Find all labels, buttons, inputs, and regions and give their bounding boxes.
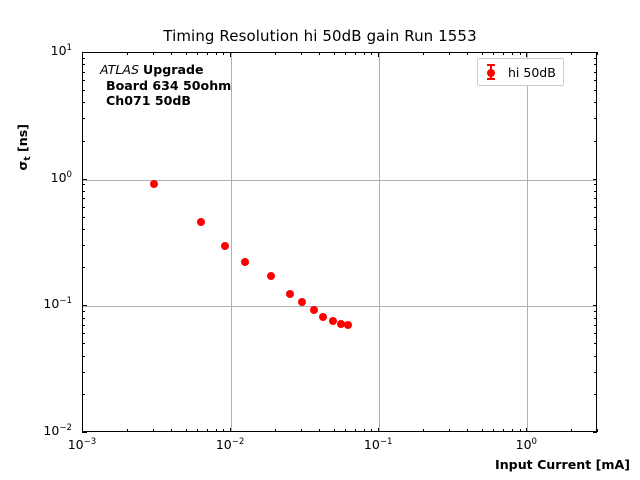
- x-tick-top: [597, 52, 598, 55]
- x-tick: [378, 428, 379, 433]
- data-point: [344, 321, 352, 329]
- y-tick: [82, 267, 85, 268]
- y-tick-right: [594, 394, 597, 395]
- y-tick: [82, 343, 85, 344]
- y-tick: [82, 118, 85, 119]
- x-tick-top: [275, 52, 276, 55]
- plot-area: [82, 52, 597, 432]
- x-tick: [207, 429, 208, 432]
- y-tick-right: [594, 58, 597, 59]
- x-tick-top: [378, 52, 379, 57]
- y-tick-right: [594, 229, 597, 230]
- data-point: [221, 242, 229, 250]
- x-tick-top: [127, 52, 128, 55]
- x-tick: [319, 429, 320, 432]
- y-tick: [82, 432, 87, 433]
- data-point: [319, 313, 327, 321]
- y-tick-right: [594, 191, 597, 192]
- y-tick: [82, 356, 85, 357]
- x-tick-top: [319, 52, 320, 55]
- x-gridline: [527, 53, 528, 431]
- channel-label: Ch071 50dB: [100, 93, 231, 109]
- x-tick: [467, 429, 468, 432]
- y-tick: [82, 372, 85, 373]
- x-tick: [520, 429, 521, 432]
- x-tick: [334, 429, 335, 432]
- x-tick: [345, 429, 346, 432]
- y-tick: [82, 102, 85, 103]
- y-tick-right: [594, 311, 597, 312]
- x-tick: [597, 429, 598, 432]
- legend-marker-icon: [483, 63, 499, 81]
- x-tick: [371, 429, 372, 432]
- x-tick: [364, 429, 365, 432]
- y-tick-right: [594, 64, 597, 65]
- x-tick: [186, 429, 187, 432]
- x-tick: [223, 429, 224, 432]
- y-tick-right: [594, 118, 597, 119]
- x-tick-top: [423, 52, 424, 55]
- x-tick-top: [197, 52, 198, 55]
- x-axis-title: Input Current [mA]: [495, 457, 630, 472]
- y-tick-right: [594, 343, 597, 344]
- y-tick: [82, 245, 85, 246]
- y-tick: [82, 229, 85, 230]
- x-tick-top: [503, 52, 504, 55]
- y-tick: [82, 318, 85, 319]
- y-tick: [82, 198, 85, 199]
- data-point: [241, 258, 249, 266]
- y-tick-label: 101: [26, 43, 72, 58]
- y-tick-right: [594, 267, 597, 268]
- upgrade-label: Upgrade: [143, 62, 204, 77]
- y-tick-right: [594, 245, 597, 246]
- y-tick: [82, 191, 85, 192]
- y-gridline: [83, 180, 596, 181]
- x-tick-top: [355, 52, 356, 55]
- x-tick-top: [371, 52, 372, 55]
- x-tick-top: [520, 52, 521, 55]
- data-point: [267, 272, 275, 280]
- y-tick-right: [594, 325, 597, 326]
- figure-canvas: Timing Resolution hi 50dB gain Run 1553 …: [0, 0, 640, 480]
- x-tick-label: 10−2: [200, 437, 260, 452]
- chart-title: Timing Resolution hi 50dB gain Run 1553: [0, 27, 640, 45]
- data-point: [197, 218, 205, 226]
- x-tick: [449, 429, 450, 432]
- x-tick: [230, 428, 231, 433]
- y-tick: [82, 325, 85, 326]
- y-tick: [82, 217, 85, 218]
- y-tick: [82, 64, 85, 65]
- x-tick: [355, 429, 356, 432]
- y-tick-label: 100: [26, 170, 72, 185]
- x-tick: [571, 429, 572, 432]
- y-tick-right: [594, 198, 597, 199]
- y-tick-right: [594, 333, 597, 334]
- x-tick: [423, 429, 424, 432]
- y-tick-label: 10−1: [26, 296, 72, 311]
- x-tick-label: 10−3: [52, 437, 112, 452]
- x-tick: [275, 429, 276, 432]
- y-tick-right: [594, 184, 597, 185]
- x-tick: [503, 429, 504, 432]
- x-tick: [153, 429, 154, 432]
- x-tick-top: [216, 52, 217, 55]
- x-tick: [216, 429, 217, 432]
- x-tick: [171, 429, 172, 432]
- x-tick-label: 10−1: [348, 437, 408, 452]
- x-tick-top: [467, 52, 468, 55]
- atlas-label: ATLAS: [100, 62, 139, 77]
- y-tick: [82, 72, 85, 73]
- y-tick-right: [594, 80, 597, 81]
- y-tick: [82, 207, 85, 208]
- x-tick-top: [364, 52, 365, 55]
- legend-entry-label: hi 50dB: [508, 65, 556, 80]
- y-tick-right: [594, 102, 597, 103]
- data-point: [286, 290, 294, 298]
- x-tick-top: [171, 52, 172, 55]
- y-tick: [82, 179, 87, 180]
- y-tick-label: 10−2: [26, 423, 72, 438]
- y-tick-right: [594, 372, 597, 373]
- y-tick-right: [594, 207, 597, 208]
- x-tick-top: [493, 52, 494, 55]
- y-tick-right: [593, 52, 598, 53]
- y-tick-right: [594, 217, 597, 218]
- x-tick-top: [526, 52, 527, 57]
- x-tick-top: [207, 52, 208, 55]
- y-tick: [82, 90, 85, 91]
- legend-box[interactable]: hi 50dB: [477, 58, 564, 86]
- y-tick-right: [594, 72, 597, 73]
- x-gridline: [379, 53, 380, 431]
- x-gridline: [231, 53, 232, 431]
- x-tick-top: [334, 52, 335, 55]
- y-tick: [82, 141, 85, 142]
- x-tick: [512, 429, 513, 432]
- y-tick: [82, 58, 85, 59]
- y-tick: [82, 184, 85, 185]
- x-tick-top: [571, 52, 572, 55]
- x-tick-top: [345, 52, 346, 55]
- y-tick: [82, 305, 87, 306]
- y-tick: [82, 394, 85, 395]
- data-point: [298, 298, 306, 306]
- x-tick: [301, 429, 302, 432]
- y-tick-right: [594, 141, 597, 142]
- y-gridline: [83, 306, 596, 307]
- x-tick-top: [301, 52, 302, 55]
- x-tick: [493, 429, 494, 432]
- x-tick-top: [186, 52, 187, 55]
- board-label: Board 634 50ohm: [100, 78, 231, 94]
- x-tick-top: [223, 52, 224, 55]
- y-tick-right: [593, 179, 598, 180]
- y-tick-right: [594, 356, 597, 357]
- y-tick-right: [593, 305, 598, 306]
- x-tick-label: 100: [496, 437, 556, 452]
- x-tick-top: [482, 52, 483, 55]
- x-tick-top: [153, 52, 154, 55]
- atlas-annotation: ATLAS Upgrade Board 634 50ohm Ch071 50dB: [100, 62, 231, 109]
- y-tick: [82, 80, 85, 81]
- x-tick: [482, 429, 483, 432]
- y-tick-right: [594, 90, 597, 91]
- data-point: [310, 306, 318, 314]
- data-point: [150, 180, 158, 188]
- y-tick: [82, 311, 85, 312]
- x-tick: [526, 428, 527, 433]
- x-tick: [197, 429, 198, 432]
- x-tick-top: [230, 52, 231, 57]
- y-tick: [82, 52, 87, 53]
- x-tick-top: [449, 52, 450, 55]
- y-tick-right: [594, 318, 597, 319]
- x-tick: [127, 429, 128, 432]
- y-tick-right: [593, 432, 598, 433]
- x-tick-top: [512, 52, 513, 55]
- y-tick: [82, 333, 85, 334]
